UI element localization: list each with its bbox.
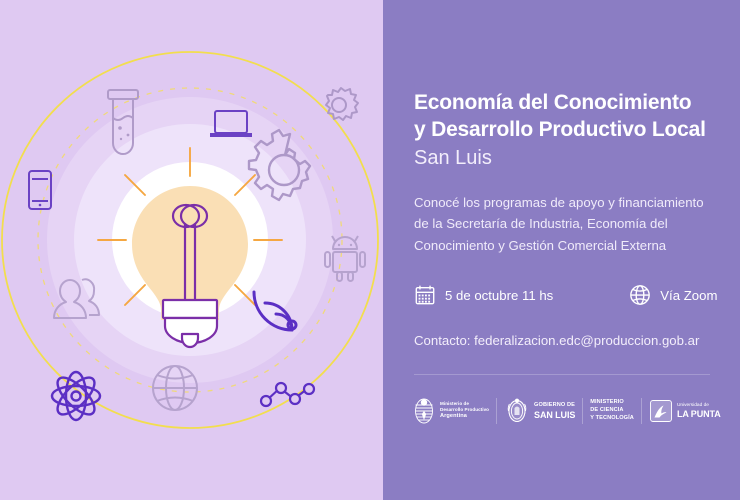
innovation-illustration bbox=[0, 0, 383, 500]
logo-line-2: SAN LUIS bbox=[534, 410, 575, 420]
title-block: Economía del Conocimiento y Desarrollo P… bbox=[414, 90, 724, 171]
event-date-item: 5 de octubre 11 hs bbox=[414, 284, 553, 306]
event-meta-row: 5 de octubre 11 hs Vía Zoom bbox=[414, 284, 717, 306]
illustration-panel bbox=[0, 0, 383, 500]
logo-ministerio-desarrollo-productivo: Ministerio de Desarrollo Productivo Arge… bbox=[412, 396, 489, 426]
contact-line[interactable]: Contacto: federalizacion.edc@produccion.… bbox=[414, 333, 699, 348]
logo-ministerio-ciencia-tecnologia: MINISTERIO DE CIENCIA Y TECNOLOGÍA bbox=[590, 399, 634, 423]
footer-divider bbox=[414, 374, 710, 375]
logo-line-3: Y TECNOLOGÍA bbox=[590, 415, 634, 423]
atom-icon bbox=[52, 372, 100, 420]
event-location-label: Vía Zoom bbox=[660, 288, 717, 303]
argentina-sun-emblem bbox=[412, 396, 436, 426]
logo-line-2: DE CIENCIA bbox=[590, 407, 634, 415]
logo-text-group: Ministerio de Desarrollo Productivo Arge… bbox=[440, 401, 489, 421]
event-flyer: Economía del Conocimiento y Desarrollo P… bbox=[0, 0, 740, 500]
la-punta-shield bbox=[649, 399, 673, 423]
globe-icon bbox=[629, 284, 651, 306]
event-location-item: Vía Zoom bbox=[629, 284, 717, 306]
logo-line-2: LA PUNTA bbox=[677, 409, 721, 419]
logo-separator bbox=[496, 398, 497, 424]
logo-gobierno-san-luis: GOBIERNO DE SAN LUIS bbox=[504, 397, 575, 425]
logo-separator bbox=[641, 398, 642, 424]
page-title: Economía del Conocimiento y Desarrollo P… bbox=[414, 90, 724, 144]
logo-line-1: MINISTERIO bbox=[590, 399, 634, 407]
smartphone-icon bbox=[29, 171, 51, 209]
illustration-stage bbox=[0, 0, 383, 500]
logo-text-group: Universidad de LA PUNTA bbox=[677, 403, 721, 419]
logo-text-group: GOBIERNO DE SAN LUIS bbox=[534, 402, 575, 420]
logo-universidad-la-punta: Universidad de LA PUNTA bbox=[649, 399, 721, 423]
san-luis-coat-of-arms bbox=[504, 397, 530, 425]
sponsor-logo-strip: Ministerio de Desarrollo Productivo Arge… bbox=[412, 390, 727, 432]
logo-line-1: GOBIERNO DE bbox=[534, 402, 575, 410]
logo-separator bbox=[582, 398, 583, 424]
body-block: Conocé los programas de apoyo y financia… bbox=[414, 192, 714, 256]
calendar-icon bbox=[414, 284, 436, 306]
page-subtitle: San Luis bbox=[414, 145, 724, 171]
title-line-2: y Desarrollo Productivo Local bbox=[414, 118, 706, 141]
content-panel: Economía del Conocimiento y Desarrollo P… bbox=[383, 0, 740, 500]
logo-line-3: Argentina bbox=[440, 413, 489, 421]
node-chart-icon bbox=[261, 383, 314, 406]
logo-text-group: MINISTERIO DE CIENCIA Y TECNOLOGÍA bbox=[590, 399, 634, 423]
title-line-1: Economía del Conocimiento bbox=[414, 91, 691, 114]
event-date-label: 5 de octubre 11 hs bbox=[445, 288, 553, 303]
body-paragraph: Conocé los programas de apoyo y financia… bbox=[414, 192, 714, 256]
